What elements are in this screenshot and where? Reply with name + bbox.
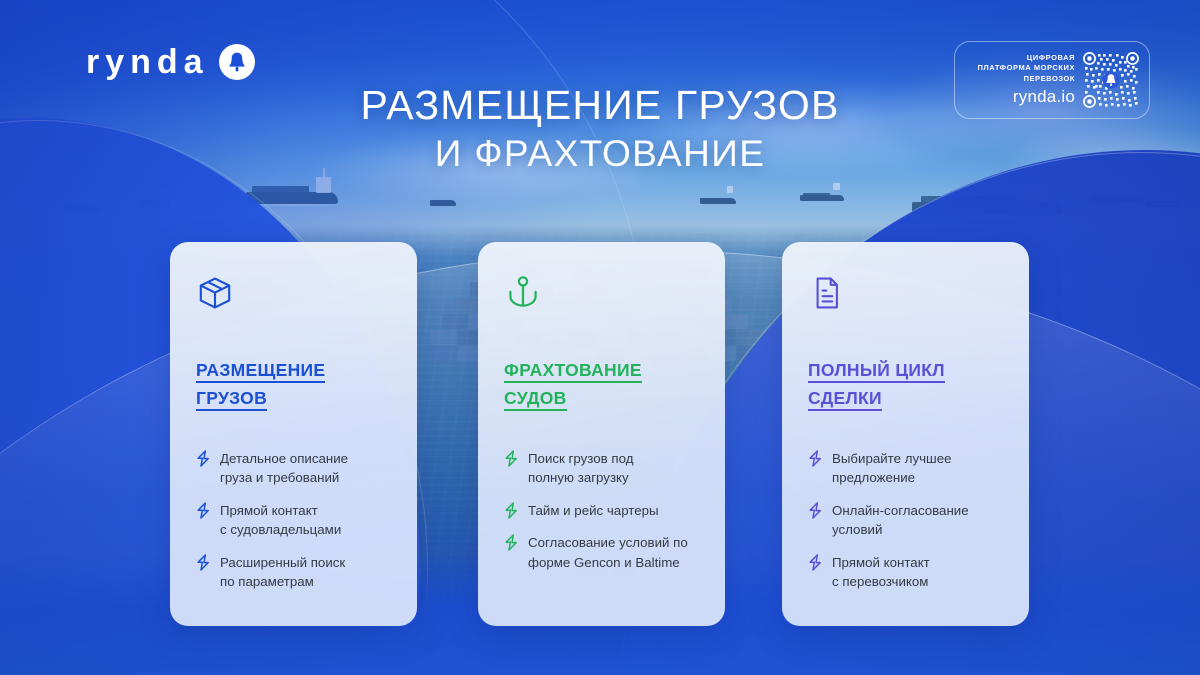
anchor-icon <box>504 274 542 312</box>
list-item: Прямой контактс перевозчиком <box>808 553 1003 592</box>
card-title-line-2: СУДОВ <box>504 388 567 411</box>
card-chartering[interactable]: ФРАХТОВАНИЕ СУДОВ Поиск грузов подполную… <box>478 242 725 626</box>
qr-caption-line-2: ПЛАТФОРМА МОРСКИХ <box>977 63 1075 74</box>
lightning-bolt-icon <box>196 450 211 467</box>
list-item-text: Детальное описаниегруза и требований <box>220 449 348 488</box>
list-item-text: Прямой контактс перевозчиком <box>832 553 930 592</box>
card-title: ФРАХТОВАНИЕ СУДОВ <box>504 356 699 413</box>
card-title: РАЗМЕЩЕНИЕ ГРУЗОВ <box>196 356 391 413</box>
bell-icon <box>219 44 255 80</box>
qr-caption-line-3: ПЕРЕВОЗОК <box>977 74 1075 85</box>
lightning-bolt-icon <box>504 534 519 551</box>
document-icon <box>808 274 846 312</box>
list-item-text: Прямой контактс судовладельцами <box>220 501 341 540</box>
qr-code-icon[interactable] <box>1083 52 1139 108</box>
list-item: Онлайн-согласованиеусловий <box>808 501 1003 540</box>
brand-wordmark: rynda <box>86 45 209 79</box>
list-item: Поиск грузов подполную загрузку <box>504 449 699 488</box>
list-item-text: Выбирайте лучшеепредложение <box>832 449 952 488</box>
lightning-bolt-icon <box>808 554 823 571</box>
list-item-text: Онлайн-согласованиеусловий <box>832 501 969 540</box>
list-item-text: Расширенный поискпо параметрам <box>220 553 345 592</box>
qr-badge[interactable]: ЦИФРОВАЯ ПЛАТФОРМА МОРСКИХ ПЕРЕВОЗОК ryn… <box>954 41 1150 119</box>
card-bullet-list: Детальное описаниегруза и требований Пря… <box>196 449 391 592</box>
list-item-text: Согласование условий поформе Gencon и Ba… <box>528 533 688 572</box>
list-item-text: Поиск грузов подполную загрузку <box>528 449 633 488</box>
card-placement[interactable]: РАЗМЕЩЕНИЕ ГРУЗОВ Детальное описаниегруз… <box>170 242 417 626</box>
lightning-bolt-icon <box>504 502 519 519</box>
card-title-line-1: ПОЛНЫЙ ЦИКЛ <box>808 360 945 383</box>
lightning-bolt-icon <box>808 502 823 519</box>
list-item: Тайм и рейс чартеры <box>504 501 699 521</box>
list-item: Согласование условий поформе Gencon и Ba… <box>504 533 699 572</box>
page-title-line-2: И ФРАХТОВАНИЕ <box>0 134 1200 175</box>
list-item: Расширенный поискпо параметрам <box>196 553 391 592</box>
list-item: Выбирайте лучшеепредложение <box>808 449 1003 488</box>
list-item-text: Тайм и рейс чартеры <box>528 501 659 521</box>
brand-logo[interactable]: rynda <box>86 44 255 80</box>
slide: rynda РАЗМЕЩЕНИЕ ГРУЗОВ И ФРАХТОВАНИЕ ЦИ… <box>0 0 1200 675</box>
lightning-bolt-icon <box>808 450 823 467</box>
card-bullet-list: Выбирайте лучшеепредложение Онлайн-согла… <box>808 449 1003 592</box>
card-title-line-2: ГРУЗОВ <box>196 388 267 411</box>
package-box-icon <box>196 274 234 312</box>
lightning-bolt-icon <box>504 450 519 467</box>
site-url: rynda.io <box>977 87 1075 107</box>
list-item: Прямой контактс судовладельцами <box>196 501 391 540</box>
lightning-bolt-icon <box>196 502 211 519</box>
qr-caption-line-1: ЦИФРОВАЯ <box>977 53 1075 64</box>
qr-badge-text: ЦИФРОВАЯ ПЛАТФОРМА МОРСКИХ ПЕРЕВОЗОК ryn… <box>977 53 1075 108</box>
card-title: ПОЛНЫЙ ЦИКЛ СДЕЛКИ <box>808 356 1003 413</box>
list-item: Детальное описаниегруза и требований <box>196 449 391 488</box>
card-title-line-1: ФРАХТОВАНИЕ <box>504 360 642 383</box>
lightning-bolt-icon <box>196 554 211 571</box>
card-bullet-list: Поиск грузов подполную загрузку Тайм и р… <box>504 449 699 573</box>
card-title-line-2: СДЕЛКИ <box>808 388 882 411</box>
card-title-line-1: РАЗМЕЩЕНИЕ <box>196 360 325 383</box>
card-full-cycle[interactable]: ПОЛНЫЙ ЦИКЛ СДЕЛКИ Выбирайте лучшеепредл… <box>782 242 1029 626</box>
feature-cards: РАЗМЕЩЕНИЕ ГРУЗОВ Детальное описаниегруз… <box>0 242 1200 627</box>
